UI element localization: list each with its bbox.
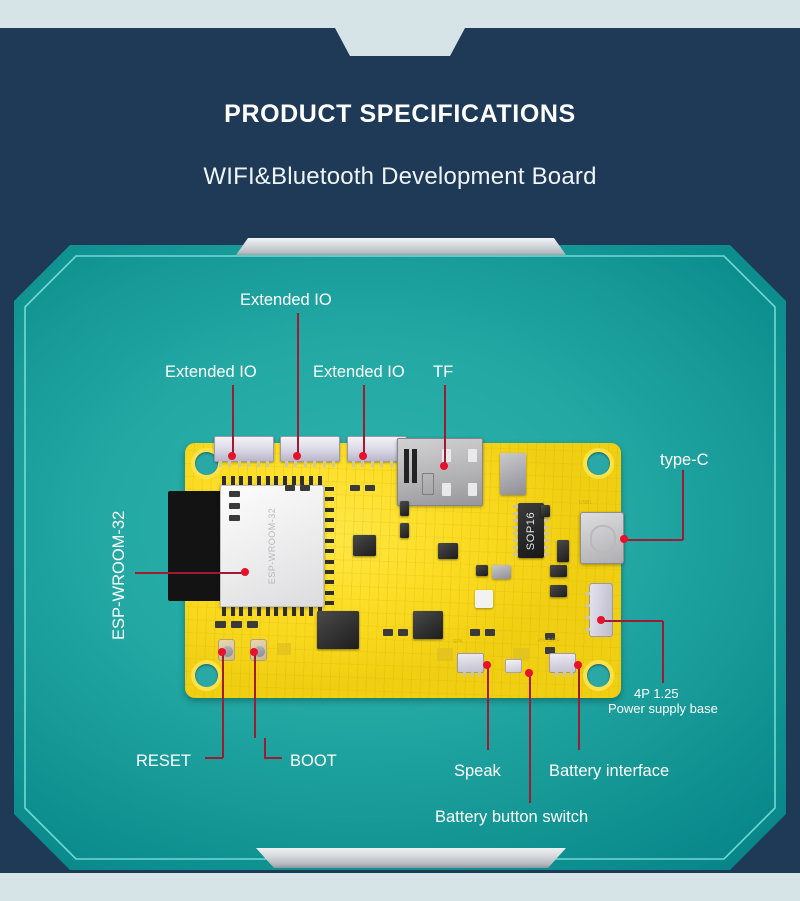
tf-card-slot: [397, 438, 483, 506]
callout-label-extended-io-middle: Extended IO: [313, 363, 405, 382]
tf-tab-detail: [422, 473, 434, 495]
smd-passive: [300, 485, 310, 491]
leader-boot-vertical2: [264, 738, 266, 758]
esp-module-label: ESP-WROOM-32: [267, 508, 277, 585]
smd-passive: [247, 621, 258, 628]
page-subtitle: WIFI&Bluetooth Development Board: [0, 163, 800, 191]
leader-extended-io-top: [297, 313, 299, 457]
smd-passive: [365, 485, 375, 491]
dot-type-c: [620, 535, 628, 543]
smd-passive: [215, 621, 226, 628]
tf-pad: [442, 483, 451, 496]
driver-ic-secondary: [413, 611, 443, 639]
chip-legs-left: [513, 505, 518, 556]
smd-passive: [398, 629, 408, 636]
tf-pad: [468, 449, 477, 462]
crystal-oscillator: [492, 565, 511, 579]
esp-castellations-top: [222, 476, 322, 485]
callout-label-battery-button-switch: Battery button switch: [435, 808, 588, 827]
callout-label-extended-io-top: Extended IO: [240, 291, 332, 310]
callout-label-type-c: type-C: [660, 451, 709, 470]
callout-label-power-supply-base-line1: 4P 1.25: [634, 687, 679, 702]
leader-boot-vertical: [254, 651, 256, 738]
silkscreen-text: USB1: [579, 500, 592, 506]
callout-label-power-supply-base-line2: Power supply base: [608, 702, 718, 717]
leader-type-c-vertical: [682, 470, 684, 540]
leader-boot-horizontal: [264, 757, 282, 759]
dot-tf: [440, 462, 448, 470]
callout-label-boot: BOOT: [290, 752, 337, 771]
callout-label-extended-io-left: Extended IO: [165, 363, 257, 382]
esp-castellations-bottom: [222, 607, 322, 616]
regulator-ic: [353, 535, 376, 556]
smd-passive: [350, 485, 360, 491]
shielded-component: [500, 453, 526, 495]
leader-reset-vertical: [222, 651, 224, 738]
small-ic: [476, 565, 488, 576]
leader-speak: [487, 665, 489, 750]
dot-extended-io-middle: [359, 452, 367, 460]
connector-pins: [219, 461, 269, 467]
transistor: [400, 501, 409, 516]
leader-extended-io-left: [232, 385, 234, 457]
esp-castellations-right: [325, 487, 334, 605]
dot-extended-io-left: [228, 452, 236, 460]
metal-accent-bottom: [256, 848, 566, 868]
callout-label-reset: RESET: [136, 752, 191, 771]
pcb-board: ESP-WROOM-32 SOP16: [185, 443, 621, 698]
connector-pins: [352, 461, 402, 467]
solder-pad: [437, 648, 453, 661]
callout-label-esp-wroom-32: ESP-WROOM-32: [110, 511, 129, 640]
type-c-port: [580, 512, 624, 564]
tf-slot-detail: [412, 449, 417, 483]
dot-esp-wroom-32: [241, 568, 249, 576]
power-supply-connector-4p: [589, 583, 613, 637]
dot-speak: [483, 661, 491, 669]
leader-reset-horizontal: [205, 757, 223, 759]
driver-ic-main: [317, 611, 359, 649]
leader-extended-io-middle: [363, 385, 365, 457]
dot-power-supply-base: [597, 616, 605, 624]
smd-passive: [229, 515, 240, 521]
dot-boot: [250, 648, 258, 656]
silkscreen-text: +5V BAT+: [537, 638, 560, 644]
smd-passive: [229, 503, 240, 509]
leader-power-supply-base: [662, 621, 664, 683]
leader-battery-interface: [578, 665, 580, 750]
callout-label-tf: TF: [433, 363, 453, 382]
leader-tf: [444, 385, 446, 467]
mounting-hole-bl: [195, 664, 218, 687]
silkscreen-text: SPK: [453, 639, 463, 645]
leader-type-c-horizontal: [622, 539, 683, 541]
smd-passive: [231, 621, 242, 628]
dot-battery-button-switch: [525, 669, 533, 677]
leader-power-supply-base-h: [600, 620, 663, 622]
smd-passive: [485, 629, 495, 636]
connector-pins: [285, 461, 335, 467]
type-c-opening: [590, 525, 616, 553]
battery-button-switch-component[interactable]: [505, 659, 522, 673]
esp-antenna-section: [168, 491, 226, 601]
smd-passive: [285, 485, 295, 491]
tf-slot-detail: [404, 449, 409, 483]
tf-pad: [468, 483, 477, 496]
smd-diode: [541, 505, 550, 517]
transistor: [400, 523, 409, 538]
sop16-chip-label: SOP16: [525, 511, 537, 549]
dot-reset: [218, 648, 226, 656]
mosfet: [550, 565, 567, 577]
metal-accent-top: [236, 238, 566, 255]
small-ic: [438, 543, 458, 559]
mounting-hole-tr: [587, 452, 610, 475]
extended-io-connector-2: [280, 436, 340, 462]
speaker-connector: [457, 653, 484, 673]
smd-passive: [383, 629, 393, 636]
mosfet: [550, 585, 567, 597]
leader-reset-vertical2: [222, 738, 224, 758]
callout-label-battery-interface: Battery interface: [549, 762, 669, 781]
mounting-hole-br: [587, 664, 610, 687]
dot-extended-io-top: [293, 452, 301, 460]
leader-battery-button-switch: [529, 673, 531, 803]
callout-label-speak: Speak: [454, 762, 501, 781]
battery-connector: [549, 653, 576, 673]
solder-pad: [277, 643, 291, 655]
smd-passive: [470, 629, 480, 636]
ldo-regulator: [557, 540, 569, 562]
leader-esp-wroom-32: [135, 572, 245, 574]
extended-io-connector-1: [214, 436, 274, 462]
smd-passive: [229, 491, 240, 497]
white-capacitor: [475, 590, 493, 608]
page-title: PRODUCT SPECIFICATIONS: [0, 100, 800, 129]
dot-battery-interface: [574, 661, 582, 669]
